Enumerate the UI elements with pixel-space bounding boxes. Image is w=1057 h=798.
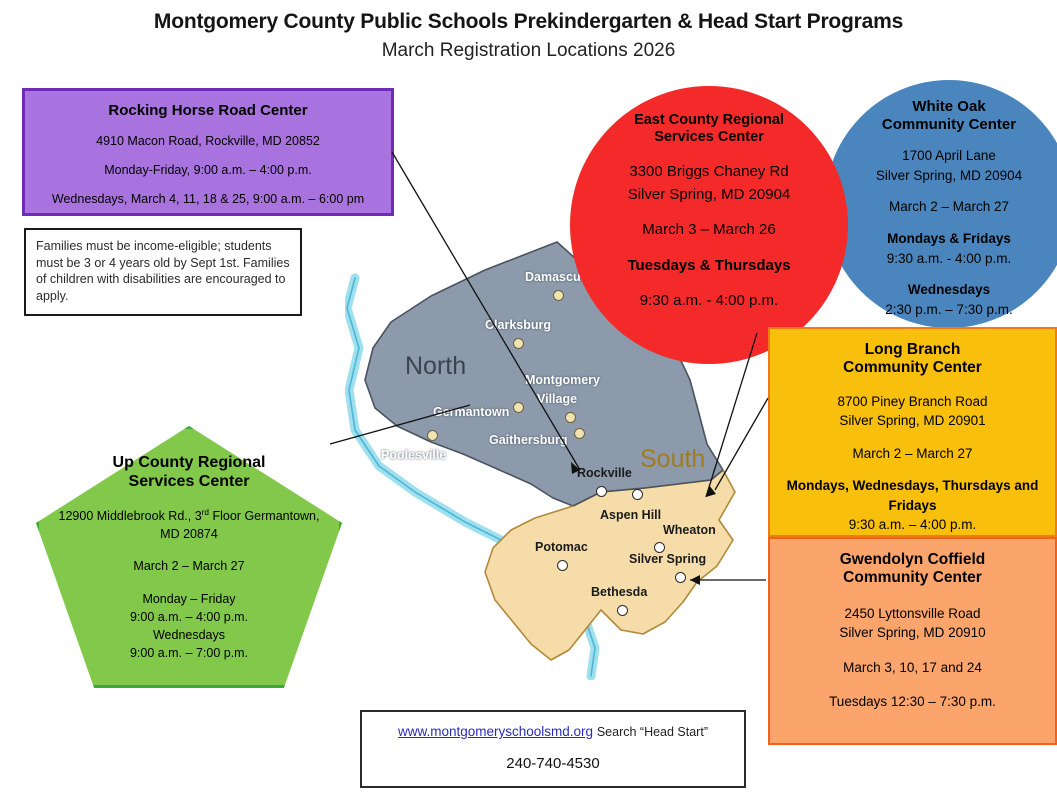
coffield-hours: 12:30 – 7:30 p.m. bbox=[891, 694, 996, 709]
east-county-title-line-2: Services Center bbox=[570, 129, 848, 146]
map-city-dot-bethesda bbox=[617, 605, 628, 616]
location-card-rocking-horse-road-center[interactable]: Rocking Horse Road Center 4910 Macon Roa… bbox=[22, 88, 394, 216]
white-oak-days-1: Mondays & Fridays bbox=[825, 230, 1057, 248]
up-county-days-2: Wednesdays bbox=[36, 627, 342, 643]
map-city-dot-silver-spring bbox=[675, 572, 686, 583]
rocking-horse-hours-2: Wednesdays, March 4, 11, 18 & 25, 9:00 a… bbox=[31, 191, 385, 207]
long-branch-dates: March 2 – March 27 bbox=[770, 445, 1055, 463]
location-card-long-branch-community-center[interactable]: Long Branch Community Center 8700 Piney … bbox=[768, 327, 1057, 537]
coffield-days: Tuesdays bbox=[829, 694, 887, 709]
east-county-dates: March 3 – March 26 bbox=[570, 220, 848, 240]
white-oak-title-line-1: White Oak bbox=[825, 98, 1057, 116]
footer-url-row: www.montgomeryschoolsmd.org Search “Head… bbox=[362, 724, 744, 739]
up-county-hours-2: 9:00 a.m. – 7:00 p.m. bbox=[36, 645, 342, 661]
up-county-address-floor: Floor Germantown, bbox=[209, 509, 319, 523]
map-city-dot-potomac bbox=[557, 560, 568, 571]
rocking-horse-title: Rocking Horse Road Center bbox=[31, 102, 385, 120]
map-region-south bbox=[485, 470, 735, 660]
up-county-hours-1: 9:00 a.m. – 4:00 p.m. bbox=[36, 609, 342, 625]
location-card-east-county-regional-services-center[interactable]: East County Regional Services Center 330… bbox=[570, 86, 848, 364]
location-card-up-county-regional-services-center[interactable]: Up County Regional Services Center 12900… bbox=[36, 426, 342, 688]
white-oak-title-line-2: Community Center bbox=[825, 116, 1057, 134]
phone-number: 240-740-4530 bbox=[362, 755, 744, 772]
coffield-title-line-2: Community Center bbox=[770, 569, 1055, 587]
page-title: Montgomery County Public Schools Prekind… bbox=[0, 10, 1057, 34]
up-county-address-ordinal: rd bbox=[202, 508, 209, 517]
map-city-dot-gaithersburg bbox=[574, 428, 585, 439]
coffield-days-hours: Tuesdays 12:30 – 7:30 p.m. bbox=[770, 693, 1055, 711]
coffield-title-line-1: Gwendolyn Coffield bbox=[770, 551, 1055, 569]
coffield-address-line-2: Silver Spring, MD 20910 bbox=[770, 624, 1055, 642]
long-branch-title-line-2: Community Center bbox=[770, 359, 1055, 377]
white-oak-address-line-2: Silver Spring, MD 20904 bbox=[825, 167, 1057, 185]
white-oak-dates: March 2 – March 27 bbox=[825, 198, 1057, 216]
up-county-title-line-2: Services Center bbox=[36, 473, 342, 492]
rocking-horse-address: 4910 Macon Road, Rockville, MD 20852 bbox=[31, 133, 385, 149]
white-oak-address-line-1: 1700 April Lane bbox=[825, 147, 1057, 165]
up-county-days-1: Monday – Friday bbox=[36, 591, 342, 607]
east-county-address-line-2: Silver Spring, MD 20904 bbox=[570, 185, 848, 205]
long-branch-address-line-1: 8700 Piney Branch Road bbox=[770, 393, 1055, 411]
contact-info-box: www.montgomeryschoolsmd.org Search “Head… bbox=[360, 710, 746, 788]
map-city-dot-clarksburg bbox=[513, 338, 524, 349]
coffield-address-line-1: 2450 Lyttonsville Road bbox=[770, 605, 1055, 623]
website-link[interactable]: www.montgomeryschoolsmd.org bbox=[398, 724, 593, 739]
east-county-days: Tuesdays & Thursdays bbox=[570, 256, 848, 276]
east-county-address-line-1: 3300 Briggs Chaney Rd bbox=[570, 162, 848, 182]
rocking-horse-hours-1: Monday-Friday, 9:00 a.m. – 4:00 p.m. bbox=[31, 162, 385, 178]
up-county-address-line-2: MD 20874 bbox=[36, 526, 342, 542]
map-city-dot-germantown bbox=[513, 402, 524, 413]
up-county-address-line-1: 12900 Middlebrook Rd., 3rd Floor Germant… bbox=[36, 508, 342, 524]
map-city-dot-aspen-hill bbox=[632, 489, 643, 500]
up-county-dates: March 2 – March 27 bbox=[36, 558, 342, 574]
long-branch-days-line-1: Mondays, Wednesdays, Thursdays and bbox=[770, 477, 1055, 495]
east-county-hours: 9:30 a.m. - 4:00 p.m. bbox=[570, 291, 848, 311]
location-card-white-oak-community-center[interactable]: White Oak Community Center 1700 April La… bbox=[825, 80, 1057, 328]
location-card-gwendolyn-coffield-community-center[interactable]: Gwendolyn Coffield Community Center 2450… bbox=[768, 537, 1057, 745]
map-city-dot-rockville bbox=[596, 486, 607, 497]
up-county-title-line-1: Up County Regional bbox=[36, 454, 342, 473]
page-subtitle: March Registration Locations 2026 bbox=[0, 40, 1057, 62]
eligibility-note-box: Families must be income-eligible; studen… bbox=[24, 228, 302, 316]
up-county-text-wrap: Up County Regional Services Center 12900… bbox=[36, 426, 342, 688]
map-city-dot-wheaton bbox=[654, 542, 665, 553]
coffield-dates: March 3, 10, 17 and 24 bbox=[770, 659, 1055, 677]
search-hint: Search “Head Start” bbox=[597, 725, 708, 739]
long-branch-title-line-1: Long Branch bbox=[770, 341, 1055, 359]
long-branch-days-line-2: Fridays bbox=[770, 497, 1055, 515]
east-county-title-line-1: East County Regional bbox=[570, 112, 848, 129]
infographic-canvas: Montgomery County Public Schools Prekind… bbox=[0, 0, 1057, 798]
map-city-dot-poolesville bbox=[427, 430, 438, 441]
long-branch-hours: 9:30 a.m. – 4:00 p.m. bbox=[770, 516, 1055, 534]
map-city-dot-damascus bbox=[553, 290, 564, 301]
up-county-address-street: 12900 Middlebrook Rd., 3 bbox=[59, 509, 202, 523]
white-oak-hours-1: 9:30 a.m. - 4:00 p.m. bbox=[825, 250, 1057, 268]
eligibility-note-text: Families must be income-eligible; studen… bbox=[36, 238, 290, 305]
map-city-dot-montgomery-village bbox=[565, 412, 576, 423]
long-branch-address-line-2: Silver Spring, MD 20901 bbox=[770, 412, 1055, 430]
white-oak-days-2: Wednesdays bbox=[825, 281, 1057, 299]
white-oak-hours-2: 2:30 p.m. – 7:30 p.m. bbox=[825, 301, 1057, 319]
